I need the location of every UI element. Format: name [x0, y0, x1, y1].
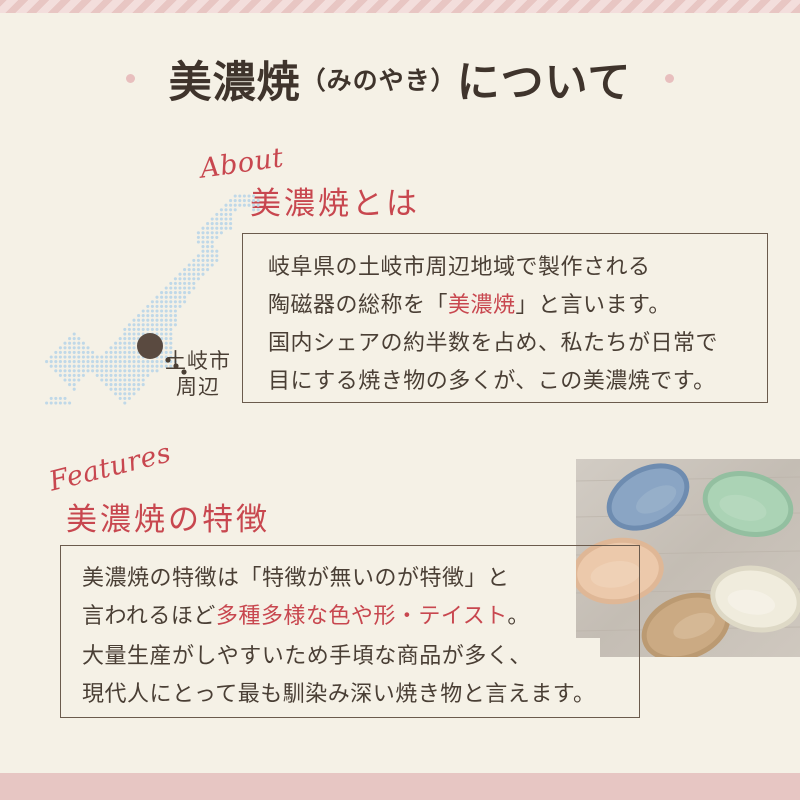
- section-2-script-label: Features: [46, 437, 174, 497]
- map-label-line-1: 土岐市: [158, 348, 238, 374]
- title-main-text: 美濃焼: [169, 48, 301, 110]
- section-2-heading: 美濃焼の特徴: [66, 494, 270, 539]
- section-2-paragraph-1: 美濃焼の特徴は「特徴が無いのが特徴」と 言われるほど多種多様な色や形・テイスト。: [82, 560, 534, 636]
- section-2-p1-line-2: 言われるほど多種多様な色や形・テイスト。: [82, 598, 530, 636]
- title-dot-left-icon: [126, 74, 135, 83]
- title-kana-text: （みのやき）: [301, 61, 457, 97]
- section-1-p1-line-2: 陶磁器の総称を「美濃焼」と言います。: [268, 287, 671, 325]
- section-1-p1-line-1: 岐阜県の土岐市周辺地域で製作される: [268, 249, 671, 287]
- map-marker-label: 土岐市 周辺: [158, 348, 238, 400]
- section-2-p1-line-1: 美濃焼の特徴は「特徴が無いのが特徴」と: [82, 560, 530, 598]
- top-stripe-border: [0, 0, 800, 13]
- section-1-p2-line-2: 目にする焼き物の多くが、この美濃焼です。: [268, 363, 718, 401]
- bottom-pink-band: [0, 773, 800, 800]
- section-1-paragraph-1: 岐阜県の土岐市周辺地域で製作される 陶磁器の総称を「美濃焼」と言います。: [268, 249, 671, 325]
- section-2-paragraph-2: 大量生産がしやすいため手頃な商品が多く、 現代人にとって最も馴染み深い焼き物と言…: [82, 638, 600, 714]
- title-dot-right-icon: [665, 74, 674, 83]
- page-title: 美濃焼（みのやき）について: [0, 48, 800, 110]
- section-2-p2-line-2: 現代人にとって最も馴染み深い焼き物と言えます。: [82, 676, 596, 714]
- japan-map-svg: [28, 190, 278, 405]
- infographic-page: 美濃焼（みのやき）について About 美濃焼とは 岐阜県の土岐市周辺地域で製作…: [0, 0, 800, 800]
- section-2-p2-line-1: 大量生産がしやすいため手頃な商品が多く、: [82, 638, 596, 676]
- map-label-line-2: 周辺: [158, 374, 238, 400]
- title-tail-text: について: [457, 48, 632, 110]
- section-1-p2-line-1: 国内シェアの約半数を占め、私たちが日常で: [268, 325, 718, 363]
- japan-dot-map: [28, 190, 278, 405]
- section-1-paragraph-2: 国内シェアの約半数を占め、私たちが日常で 目にする焼き物の多くが、この美濃焼です…: [268, 325, 718, 401]
